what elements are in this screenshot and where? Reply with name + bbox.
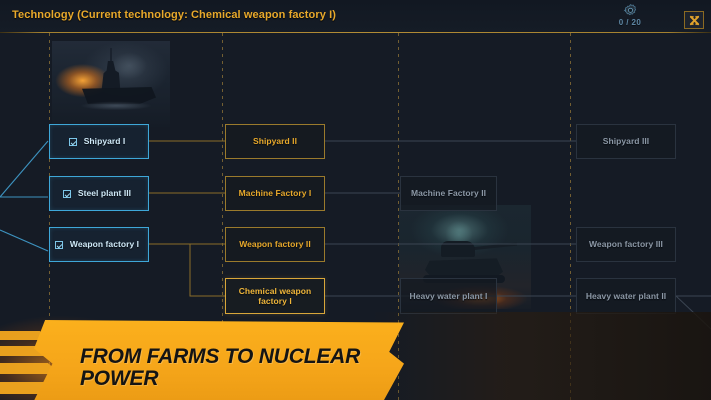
tech-node-label: Steel plant III [74, 188, 135, 198]
close-button[interactable] [684, 11, 704, 29]
tech-node-label: Weapon factory I [66, 239, 143, 249]
tech-node-weapon-factory-iii[interactable]: Weapon factory III [576, 227, 676, 262]
tech-node-label: Shipyard II [249, 136, 301, 146]
tech-node-label: Heavy water plant I [406, 291, 492, 301]
cog-icon [623, 3, 638, 18]
close-x-icon [689, 15, 700, 26]
tech-node-shipyard-i[interactable]: Shipyard I [49, 124, 149, 159]
tech-node-label: Machine Factory II [407, 188, 490, 198]
tech-node-weapon-factory-ii[interactable]: Weapon factory II [225, 227, 325, 262]
window-header: Technology (Current technology: Chemical… [0, 0, 711, 33]
checkbox-checked-icon [55, 241, 63, 249]
checkbox-checked-icon [63, 190, 71, 198]
tech-node-heavy-water-plant-i[interactable]: Heavy water plant I [400, 278, 497, 314]
tech-node-chemical-weapon-factory-i[interactable]: Chemical weapon factory I [225, 278, 325, 314]
research-points-counter[interactable]: 0 / 20 [604, 2, 656, 32]
tech-node-heavy-water-plant-ii[interactable]: Heavy water plant II [576, 278, 676, 314]
tech-node-shipyard-iii[interactable]: Shipyard III [576, 124, 676, 159]
tech-node-label: Chemical weapon factory I [226, 286, 324, 307]
tech-node-label: Machine Factory I [235, 188, 316, 198]
tech-node-label: Shipyard I [80, 136, 130, 146]
tech-node-shipyard-ii[interactable]: Shipyard II [225, 124, 325, 159]
research-points-value: 0 / 20 [604, 18, 656, 27]
tech-node-steel-plant-iii[interactable]: Steel plant III [49, 176, 149, 211]
tech-node-label: Heavy water plant II [582, 291, 670, 301]
tech-node-label: Shipyard III [599, 136, 653, 146]
banner-headline-line-2: POWER [80, 368, 380, 390]
checkbox-checked-icon [69, 138, 77, 146]
banner-right-fade [371, 312, 711, 400]
tech-node-weapon-factory-i[interactable]: Weapon factory I [49, 227, 149, 262]
banner-headline-line-1: FROM FARMS TO NUCLEAR [80, 346, 380, 368]
tech-node-label: Weapon factory II [235, 239, 315, 249]
technology-screen: Technology (Current technology: Chemical… [0, 0, 711, 400]
banner-headline: FROM FARMS TO NUCLEAR POWER [80, 346, 380, 391]
tech-node-label: Weapon factory III [585, 239, 667, 249]
page-title: Technology (Current technology: Chemical… [12, 9, 336, 21]
tech-node-machine-factory-i[interactable]: Machine Factory I [225, 176, 325, 211]
promo-banner: FROM FARMS TO NUCLEAR POWER [0, 312, 711, 400]
tech-node-machine-factory-ii[interactable]: Machine Factory II [400, 176, 497, 211]
